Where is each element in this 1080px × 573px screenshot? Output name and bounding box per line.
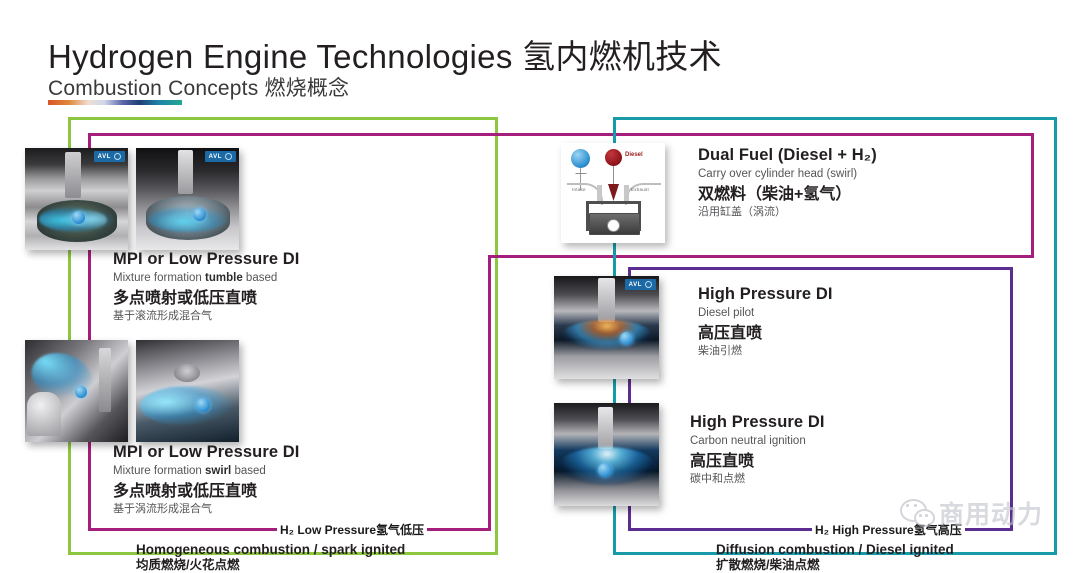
accent-gradient-bar (48, 100, 182, 105)
image-mpi-tumble-b: AVL (136, 148, 239, 250)
avl-label: AVL (209, 154, 222, 160)
avl-badge: AVL (625, 279, 656, 290)
concept-heading: MPI or Low Pressure DI (113, 443, 300, 462)
connector-green-right (495, 117, 498, 555)
gear-icon (114, 153, 121, 160)
page-subtitle: Combustion Concepts 燃烧概念 (48, 72, 349, 102)
connector-purple-top (628, 267, 1013, 270)
image-mpi-tumble-a: AVL (25, 148, 128, 250)
image-dual-fuel-schematic: Diesel Intake Exhaust (561, 143, 665, 243)
diesel-source-icon (605, 149, 622, 166)
connector-teal-top (613, 117, 1057, 120)
concept-heading-cn: 高压直喷 (698, 324, 833, 343)
concept-subtitle: Carbon neutral ignition (690, 434, 825, 449)
concept-heading: Dual Fuel (Diesel + H₂) (698, 146, 877, 165)
gear-icon (645, 281, 652, 288)
avl-badge: AVL (94, 151, 125, 162)
avl-badge: AVL (205, 151, 236, 162)
sim-render-d (136, 340, 239, 442)
connector-purple-right (1010, 267, 1013, 531)
connector-magenta-drop (488, 255, 491, 531)
avl-label: AVL (98, 154, 111, 160)
concept-heading: High Pressure DI (690, 413, 825, 432)
concept-subtitle: Diesel pilot (698, 306, 833, 321)
concept-subtitle: Mixture formation swirl based (113, 464, 300, 479)
concept-heading-cn: 高压直喷 (690, 452, 825, 471)
concept-subtitle: Carry over cylinder head (swirl) (698, 167, 877, 182)
concept-hpdi-diesel-pilot: High Pressure DI Diesel pilot 高压直喷 柴油引燃 (698, 285, 833, 359)
concept-subtitle: Mixture formation tumble based (113, 271, 300, 286)
concept-heading: High Pressure DI (698, 285, 833, 304)
hydrogen-source-icon (571, 149, 590, 168)
pipe-label-high-pressure: H₂ High Pressure氢气高压 (812, 521, 965, 538)
footer-left-en: Homogeneous combustion / spark ignited (136, 543, 405, 558)
connector-magenta-far-right (1031, 133, 1034, 257)
connector-magenta-mid-right (488, 255, 1034, 258)
intake-label: Intake (572, 187, 586, 192)
page-title: Hydrogen Engine Technologies 氢内燃机技术 (48, 30, 722, 78)
concept-subtitle-cn: 柴油引燃 (698, 345, 833, 359)
footer-right: Diffusion combustion / Diesel ignited 扩散… (716, 543, 954, 573)
gear-icon (225, 153, 232, 160)
connector-green-top (68, 117, 498, 120)
diesel-label: Diesel (625, 152, 643, 158)
sim-render-b (136, 148, 239, 250)
image-mpi-swirl-b (136, 340, 239, 442)
concept-mpi-swirl: MPI or Low Pressure DI Mixture formation… (113, 443, 300, 517)
concept-mpi-tumble: MPI or Low Pressure DI Mixture formation… (113, 250, 300, 324)
concept-heading: MPI or Low Pressure DI (113, 250, 300, 269)
footer-right-en: Diffusion combustion / Diesel ignited (716, 543, 954, 558)
concept-heading-cn: 双燃料（柴油+氢气） (698, 185, 877, 204)
concept-subtitle-cn: 碳中和点燃 (690, 473, 825, 487)
sim-render-e (554, 276, 659, 379)
sim-render-a (25, 148, 128, 250)
concept-subtitle-cn: 沿用缸盖（涡流） (698, 206, 877, 220)
image-hpdi-carbon-neutral (554, 403, 659, 506)
piston-pin (607, 219, 620, 232)
concept-heading-cn: 多点喷射或低压直喷 (113, 482, 300, 501)
connector-teal-right (1054, 117, 1057, 555)
concept-subtitle-cn: 基于滚流形成混合气 (113, 310, 300, 324)
concept-heading-cn: 多点喷射或低压直喷 (113, 289, 300, 308)
sim-render-c (25, 340, 128, 442)
concept-hpdi-carbon-neutral: High Pressure DI Carbon neutral ignition… (690, 413, 825, 487)
concept-dual-fuel: Dual Fuel (Diesel + H₂) Carry over cylin… (698, 146, 877, 220)
connector-magenta-top (88, 133, 1034, 136)
image-hpdi-diesel-pilot: AVL (554, 276, 659, 379)
slide-canvas: Hydrogen Engine Technologies 氢内燃机技术 Comb… (0, 0, 1080, 571)
avl-label: AVL (629, 282, 642, 288)
footer-left: Homogeneous combustion / spark ignited 均… (136, 543, 405, 573)
pipe-label-low-pressure: H₂ Low Pressure氢气低压 (277, 521, 427, 538)
exhaust-label: Exhaust (631, 187, 649, 192)
concept-subtitle-cn: 基于涡流形成混合气 (113, 503, 300, 517)
image-mpi-swirl-a (25, 340, 128, 442)
sim-render-f (554, 403, 659, 506)
